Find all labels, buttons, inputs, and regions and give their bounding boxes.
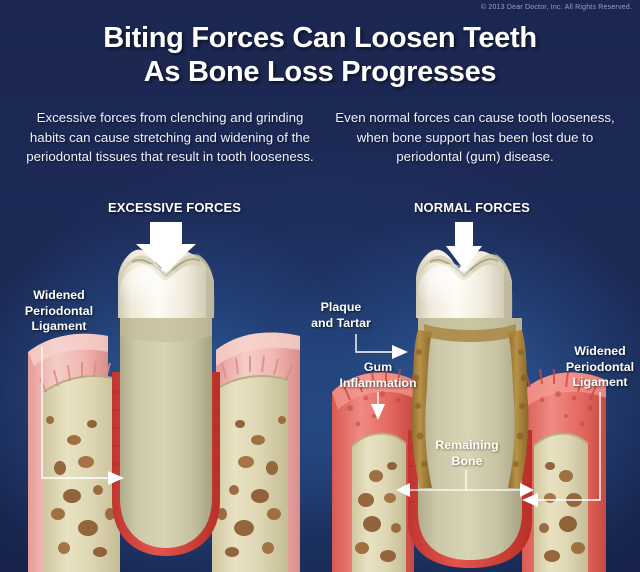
normal-forces-label: NORMAL FORCES <box>414 200 530 215</box>
title-line-2: As Bone Loss Progresses <box>0 56 640 90</box>
callout-line-3: Ligament <box>14 319 104 335</box>
callout-line-1: Remaining <box>428 438 506 454</box>
right-tooth-illustration <box>332 250 606 572</box>
callout-line-1: Widened <box>562 344 638 360</box>
callout-line-2: Periodontal <box>14 304 104 320</box>
callout-line-1: Widened <box>14 288 104 304</box>
page-title: Biting Forces Can Loosen Teeth As Bone L… <box>0 22 640 89</box>
leader-arrowhead-plaque <box>392 345 408 359</box>
right-panel-description: Even normal forces can cause tooth loose… <box>330 108 620 167</box>
callout-line-3: Ligament <box>562 375 638 391</box>
infographic-canvas: © 2013 Dear Doctor, Inc. All Rights Rese… <box>0 0 640 572</box>
callout-line-1: Plaque <box>298 300 384 316</box>
callout-line-2: and Tartar <box>298 316 384 332</box>
excessive-forces-label: EXCESSIVE FORCES <box>108 200 241 215</box>
callout-line-2: Bone <box>428 454 506 470</box>
callout-widened-pdl-left: Widened Periodontal Ligament <box>14 288 104 335</box>
callout-widened-pdl-right: Widened Periodontal Ligament <box>562 344 638 391</box>
callout-remaining-bone: Remaining Bone <box>428 438 506 469</box>
callout-line-2: Periodontal <box>562 360 638 376</box>
callout-gum-inflammation: Gum Inflammation <box>330 360 426 391</box>
callout-plaque-and-tartar: Plaque and Tartar <box>298 300 384 331</box>
left-panel-description: Excessive forces from clenching and grin… <box>22 108 318 167</box>
callout-line-1: Gum <box>330 360 426 376</box>
callout-line-2: Inflammation <box>330 376 426 392</box>
title-line-1: Biting Forces Can Loosen Teeth <box>103 22 537 54</box>
copyright-notice: © 2013 Dear Doctor, Inc. All Rights Rese… <box>481 4 632 11</box>
